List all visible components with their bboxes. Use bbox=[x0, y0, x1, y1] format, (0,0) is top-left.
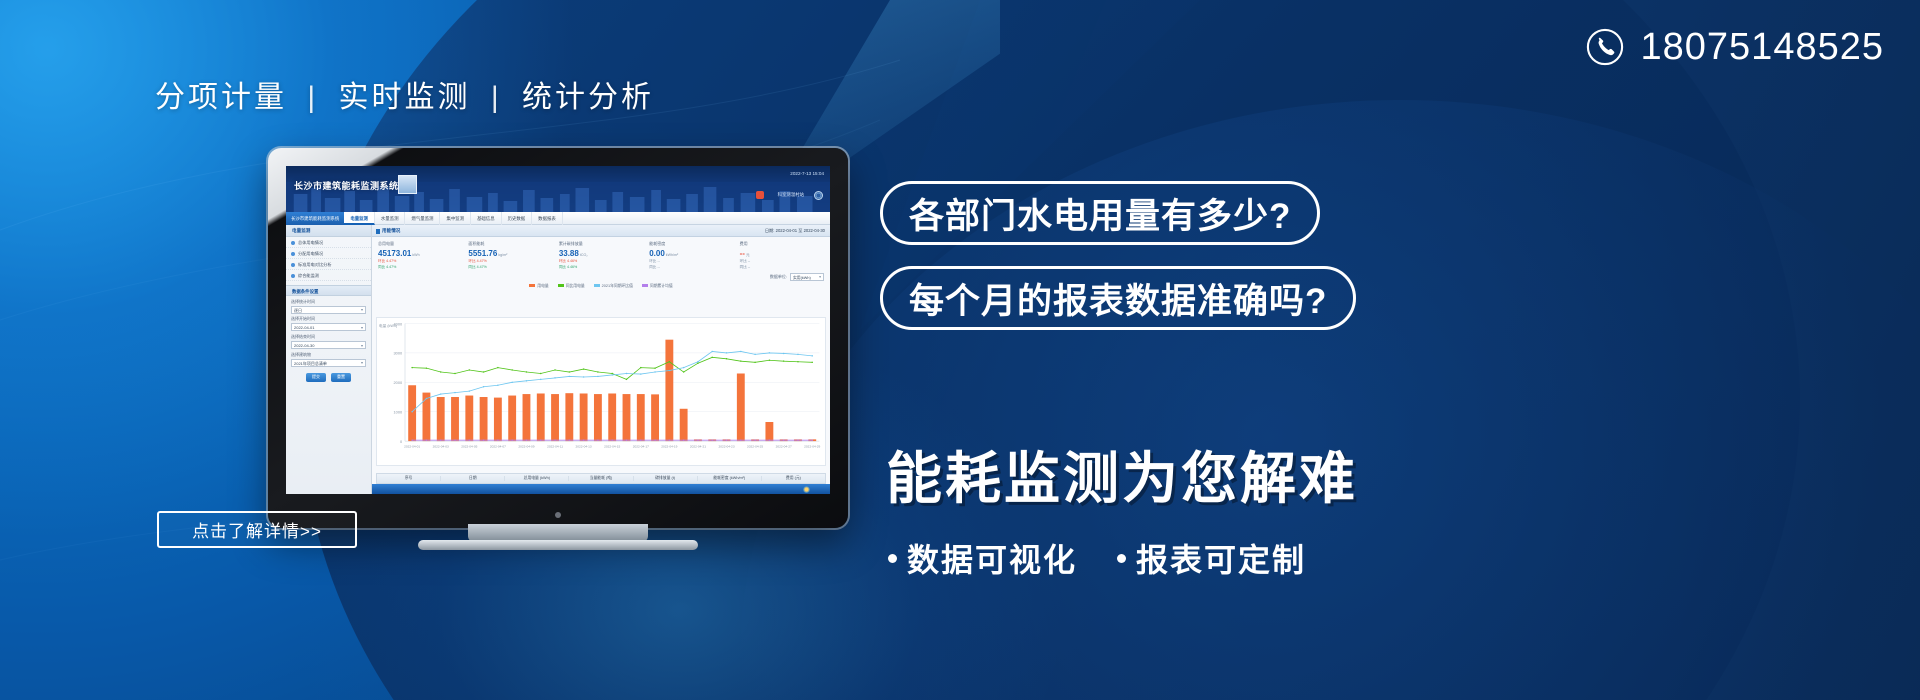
sidebar-item-comprehensive[interactable]: 综合能监测 bbox=[286, 270, 371, 281]
bullet-dot-icon bbox=[1117, 554, 1126, 563]
phone-circle-icon bbox=[1586, 28, 1624, 66]
tagline-separator-2: | bbox=[491, 81, 502, 114]
kpi-total-electricity: 总用电量 45173.01kWh 环比 4.47% 同比 4.47% bbox=[376, 241, 464, 270]
kpi-delta-2: 同比 -- bbox=[649, 265, 733, 270]
kpi-carbon-emission: 累计碳排放量 33.88tCO₂ 环比 4.46% 同比 4.46% bbox=[557, 241, 645, 270]
table-col-equivalent[interactable]: 当量能耗 (吨) bbox=[569, 476, 633, 481]
feature-bullet-1: 数据可视化 bbox=[888, 535, 1077, 581]
tab-history[interactable]: 历史数据 bbox=[502, 212, 533, 225]
sidebar-field-label-stat-period: 选择统计时间 bbox=[291, 299, 366, 305]
tagline-part-1: 分项计量 bbox=[155, 81, 287, 114]
sidebar-field-end-date[interactable]: 选择结束时间 2022-04-30 bbox=[286, 331, 371, 349]
panel-header: 用能情况 日期: 2022-04-01 至 2022-04-30 bbox=[372, 225, 830, 237]
dashboard-header: 长沙市建筑能耗监测系统 2022-7-13 15:04 科室测温村站 bbox=[286, 166, 830, 212]
tagline-part-2: 实时监测 bbox=[338, 81, 470, 114]
learn-more-button-label: 点击了解详情>> bbox=[192, 517, 322, 542]
kpi-unit: tCO₂ bbox=[580, 253, 588, 257]
svg-text:2022-04-29: 2022-04-29 bbox=[804, 445, 820, 449]
kpi-area-energy: 面积能耗 5551.76kg/m² 环比 4.47% 同比 4.47% bbox=[466, 241, 554, 270]
kpi-value: 5551.76 bbox=[468, 249, 497, 258]
contact-block[interactable]: 18075148525 bbox=[1586, 28, 1884, 66]
kpi-name: 费用 bbox=[740, 241, 824, 247]
sidebar-item-allocated-usage[interactable]: 分配用电情况 bbox=[286, 248, 371, 259]
svg-text:2022-04-19: 2022-04-19 bbox=[661, 445, 677, 449]
kpi-name: 能耗密度 bbox=[649, 241, 733, 247]
chart-container: 01000200030004000电量 (kWh)2022-04-012022-… bbox=[376, 317, 826, 466]
user-avatar-icon bbox=[756, 191, 764, 199]
kpi-cost: 费用 --元 环比 -- 同比 -- bbox=[738, 241, 826, 270]
tagline: 分项计量 | 实时监测 | 统计分析 bbox=[155, 72, 654, 116]
kpi-unit: kWh bbox=[412, 253, 419, 257]
kpi-unit: kWh/m² bbox=[666, 253, 678, 257]
dashboard-logo-icon bbox=[398, 175, 417, 194]
svg-text:3000: 3000 bbox=[394, 351, 403, 356]
dashboard-main: 用能情况 日期: 2022-04-01 至 2022-04-30 总用电量 45… bbox=[372, 225, 830, 494]
kpi-delta-2: 同比 -- bbox=[740, 265, 824, 270]
reset-button[interactable]: 重置 bbox=[331, 373, 351, 382]
legend-label-avg: 同期累计均值 bbox=[650, 284, 673, 288]
monitor-screen: 长沙市建筑能耗监测系统 2022-7-13 15:04 科室测温村站 长沙市建筑… bbox=[286, 166, 830, 494]
tab-water[interactable]: 水量监测 bbox=[375, 212, 406, 225]
unit-selector-row[interactable]: 数据单位: 实用(kWh) bbox=[372, 270, 830, 283]
dashboard-system-title: 长沙市建筑能耗监测系统 bbox=[294, 179, 399, 192]
svg-text:2022-04-13: 2022-04-13 bbox=[576, 445, 592, 449]
submit-button[interactable]: 提交 bbox=[306, 373, 326, 382]
tab-reports[interactable]: 数据报表 bbox=[532, 212, 563, 225]
gear-icon[interactable] bbox=[814, 191, 823, 200]
chart-legend: 用电量 同比用电量 2021年同期环比值 同期累计均值 bbox=[372, 283, 830, 291]
kpi-delta-2: 同比 4.47% bbox=[468, 265, 552, 270]
monitor-base bbox=[418, 540, 698, 550]
tagline-separator-1: | bbox=[307, 81, 318, 114]
svg-text:电量 (kWh): 电量 (kWh) bbox=[379, 323, 397, 328]
question-pill-2-label: 每个月的报表数据准确吗? bbox=[909, 273, 1327, 324]
unit-selector-label: 数据单位: bbox=[770, 274, 787, 280]
kpi-delta-1: 环比 -- bbox=[649, 259, 733, 264]
table-col-total[interactable]: 总用电量 (kWh) bbox=[505, 476, 569, 481]
feature-bullet-2-label: 报表可定制 bbox=[1136, 535, 1306, 581]
dashboard-app: 长沙市建筑能耗监测系统 2022-7-13 15:04 科室测温村站 长沙市建筑… bbox=[286, 166, 830, 494]
legend-label-prev-year: 2021年同期环比值 bbox=[602, 284, 633, 288]
sidebar-field-label-building: 选择建筑物 bbox=[291, 352, 366, 358]
svg-text:2022-04-25: 2022-04-25 bbox=[747, 445, 763, 449]
svg-text:2022-04-15: 2022-04-15 bbox=[604, 445, 620, 449]
svg-text:2022-04-23: 2022-04-23 bbox=[718, 445, 734, 449]
sidebar-select-stat-period[interactable]: 逐日 bbox=[291, 306, 366, 314]
energy-chart: 01000200030004000电量 (kWh)2022-04-012022-… bbox=[377, 318, 825, 465]
feature-bullets: 数据可视化 报表可定制 bbox=[888, 535, 1306, 581]
sidebar-input-start-date[interactable]: 2022-04-01 bbox=[291, 323, 366, 331]
kpi-delta-1: 环比 4.46% bbox=[559, 259, 643, 264]
dashboard-datetime: 2022-7-13 15:04 bbox=[790, 171, 824, 176]
question-pill-2: 每个月的报表数据准确吗? bbox=[880, 266, 1356, 330]
legend-item-avg[interactable]: 同期累计均值 bbox=[642, 284, 673, 289]
kpi-unit: kg/m² bbox=[498, 253, 507, 257]
legend-label-yoy: 同比用电量 bbox=[566, 284, 585, 288]
sidebar-field-stat-period[interactable]: 选择统计时间 逐日 bbox=[286, 296, 371, 314]
tab-basic-info[interactable]: 基础信息 bbox=[471, 212, 502, 225]
kpi-unit: 元 bbox=[746, 253, 750, 257]
kpi-value: 45173.01 bbox=[378, 249, 411, 258]
feature-bullet-1-label: 数据可视化 bbox=[907, 535, 1077, 581]
kpi-value: -- bbox=[740, 249, 745, 258]
svg-text:2022-04-03: 2022-04-03 bbox=[433, 445, 449, 449]
sidebar-input-end-date[interactable]: 2022-04-30 bbox=[291, 341, 366, 349]
panel-date-label: 日期: bbox=[765, 228, 775, 233]
sidebar-button-row: 提交 重置 bbox=[286, 373, 371, 382]
tagline-part-3: 统计分析 bbox=[522, 81, 654, 114]
kpi-name: 面积能耗 bbox=[468, 241, 552, 247]
svg-text:2022-04-07: 2022-04-07 bbox=[490, 445, 506, 449]
svg-text:2022-04-17: 2022-04-17 bbox=[633, 445, 649, 449]
legend-item-yoy[interactable]: 同比用电量 bbox=[558, 284, 585, 289]
kpi-name: 总用电量 bbox=[378, 241, 462, 247]
bullet-dot-icon bbox=[888, 554, 897, 563]
kpi-value: 0.00 bbox=[649, 249, 665, 258]
kpi-delta-2: 同比 4.46% bbox=[559, 265, 643, 270]
monitor-indicator-light bbox=[555, 512, 561, 518]
dashboard-sidebar: 电量监测 总体用电情况 分配用电情况 标准用电对比分析 综合能监测 数据条件设置… bbox=[286, 225, 372, 494]
tab-electricity[interactable]: 电量监测 bbox=[344, 212, 375, 225]
phone-number: 18075148525 bbox=[1641, 28, 1884, 66]
tab-central[interactable]: 集中监测 bbox=[440, 212, 471, 225]
kpi-delta-1: 环比 4.47% bbox=[468, 259, 552, 264]
sidebar-item-standard-compare[interactable]: 标准用电对比分析 bbox=[286, 259, 371, 270]
legend-swatch-prev-year bbox=[594, 284, 600, 287]
panel-date-value: 2022-04-01 至 2022-04-30 bbox=[776, 228, 825, 233]
question-pill-1-label: 各部门水电用量有多少? bbox=[909, 188, 1291, 239]
legend-item-prev-year[interactable]: 2021年同期环比值 bbox=[594, 284, 633, 289]
table-col-carbon[interactable]: 碳排放量 (t) bbox=[634, 476, 698, 481]
legend-item-usage[interactable]: 用电量 bbox=[529, 284, 548, 289]
svg-text:0: 0 bbox=[400, 439, 402, 444]
kpi-row: 总用电量 45173.01kWh 环比 4.47% 同比 4.47% 面积能耗 … bbox=[372, 237, 830, 270]
legend-swatch-usage bbox=[529, 284, 535, 287]
svg-text:2022-04-09: 2022-04-09 bbox=[518, 445, 534, 449]
sidebar-field-label-end-date: 选择结束时间 bbox=[291, 334, 366, 340]
browser-taskbar bbox=[372, 484, 830, 494]
sidebar-select-building[interactable]: 2021年项目总清单 bbox=[291, 359, 366, 367]
learn-more-button[interactable]: 点击了解详情>> bbox=[157, 511, 357, 548]
kpi-name: 累计碳排放量 bbox=[559, 241, 643, 247]
sidebar-field-building[interactable]: 选择建筑物 2021年项目总清单 bbox=[286, 349, 371, 367]
table-col-cost[interactable]: 费用 (元) bbox=[762, 476, 825, 481]
sidebar-field-label-start-date: 选择开始时间 bbox=[291, 316, 366, 322]
legend-swatch-yoy bbox=[558, 284, 564, 287]
kpi-delta-1: 环比 4.47% bbox=[378, 259, 462, 264]
data-table-header: 序号 日期 总用电量 (kWh) 当量能耗 (吨) 碳排放量 (t) 能耗密度 … bbox=[376, 473, 826, 484]
svg-text:2022-04-11: 2022-04-11 bbox=[547, 445, 563, 449]
panel-title: 用能情况 bbox=[382, 228, 400, 233]
sidebar-item-total-usage[interactable]: 总体用电情况 bbox=[286, 237, 371, 248]
kpi-delta-1: 环比 -- bbox=[740, 259, 824, 264]
tab-gas[interactable]: 燃气量监测 bbox=[405, 212, 440, 225]
feature-bullet-2: 报表可定制 bbox=[1117, 535, 1306, 581]
svg-text:2022-04-21: 2022-04-21 bbox=[690, 445, 706, 449]
dashboard-tab-bar[interactable]: 长沙市建筑能耗监测系统 电量监测 水量监测 燃气量监测 集中监测 基础信息 历史… bbox=[286, 212, 830, 225]
browser-icon[interactable] bbox=[803, 486, 810, 493]
monitor-mockup: 长沙市建筑能耗监测系统 2022-7-13 15:04 科室测温村站 长沙市建筑… bbox=[268, 148, 848, 528]
dashboard-user-name: 科室测温村站 bbox=[778, 192, 804, 198]
panel-date-range: 日期: 2022-04-01 至 2022-04-30 bbox=[765, 225, 825, 237]
table-col-index[interactable]: 序号 bbox=[377, 476, 441, 481]
kpi-value: 33.88 bbox=[559, 249, 579, 258]
table-col-density[interactable]: 能耗密度 (kWh/m²) bbox=[698, 476, 762, 481]
svg-text:2022-04-27: 2022-04-27 bbox=[776, 445, 792, 449]
table-col-date[interactable]: 日期 bbox=[441, 476, 505, 481]
svg-text:2000: 2000 bbox=[394, 380, 403, 385]
kpi-delta-2: 同比 4.47% bbox=[378, 265, 462, 270]
sidebar-form-header: 数据条件设置 bbox=[286, 285, 371, 296]
kpi-energy-density: 能耗密度 0.00kWh/m² 环比 -- 同比 -- bbox=[647, 241, 735, 270]
svg-text:1000: 1000 bbox=[394, 410, 403, 415]
tab-system-name[interactable]: 长沙市建筑能耗监测系统 bbox=[286, 212, 344, 225]
unit-select[interactable]: 实用(kWh) bbox=[790, 273, 824, 281]
svg-text:2022-04-01: 2022-04-01 bbox=[404, 445, 420, 449]
legend-swatch-avg bbox=[642, 284, 648, 287]
legend-label-usage: 用电量 bbox=[537, 284, 548, 288]
headline: 能耗监测为您解难 bbox=[886, 434, 1358, 515]
sidebar-header: 电量监测 bbox=[286, 225, 371, 237]
sidebar-field-start-date[interactable]: 选择开始时间 2022-04-01 bbox=[286, 314, 371, 332]
svg-text:2022-04-05: 2022-04-05 bbox=[461, 445, 477, 449]
question-pill-1: 各部门水电用量有多少? bbox=[880, 181, 1320, 245]
